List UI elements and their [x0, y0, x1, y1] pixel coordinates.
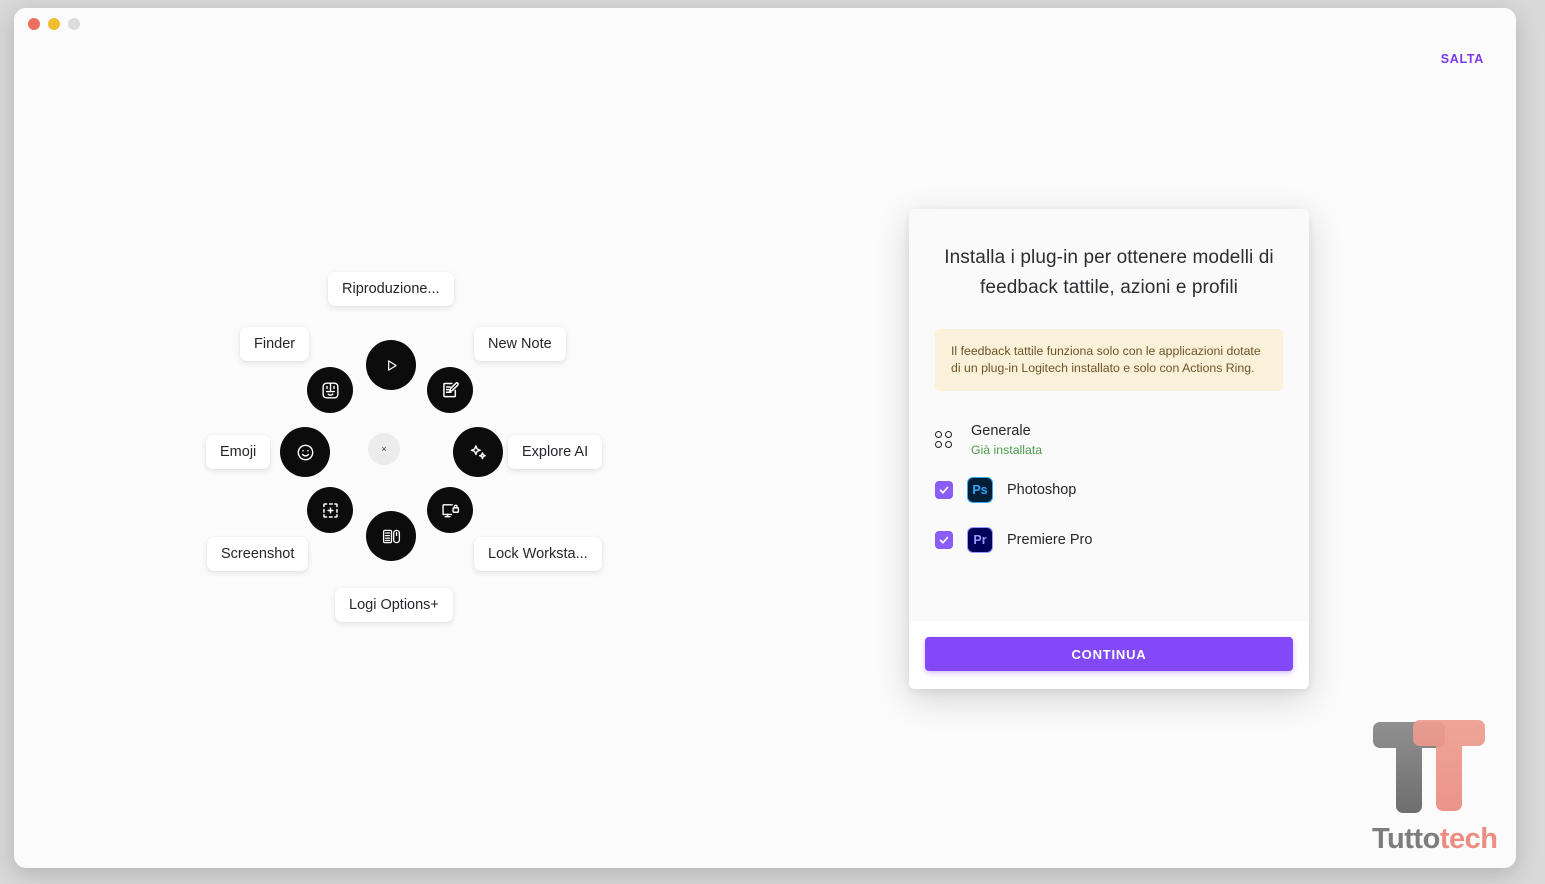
plugin-row-generale[interactable]: Generale Già installata [935, 415, 1283, 465]
ring-label-emoji[interactable]: Emoji [206, 435, 270, 469]
ring-node-explore-ai[interactable] [453, 427, 503, 477]
ring-label-new-note[interactable]: New Note [474, 327, 566, 361]
continue-button[interactable]: CONTINUA [925, 637, 1293, 671]
ring-node-riproduzione[interactable] [366, 340, 416, 390]
zoom-window-icon[interactable] [68, 18, 80, 30]
plugin-name-photoshop: Photoshop [1007, 482, 1076, 498]
note-edit-icon [440, 380, 461, 401]
ring-label-lock-workstation[interactable]: Lock Worksta... [474, 537, 602, 571]
plugin-name-premiere-pro: Premiere Pro [1007, 532, 1092, 548]
checkbox-photoshop[interactable] [935, 481, 953, 499]
screenshot-crop-icon [320, 500, 341, 521]
ring-label-logi-options[interactable]: Logi Options+ [335, 588, 453, 622]
skip-link[interactable]: SALTA [1441, 52, 1484, 66]
plugin-text-generale: Generale Già installata [971, 422, 1042, 459]
plugin-list: Generale Già installata Ps Photoshop [935, 415, 1283, 565]
ring-close-button[interactable]: × [368, 433, 400, 465]
keyboard-mouse-icon [381, 526, 402, 547]
traffic-light-group [28, 18, 80, 30]
ring-label-riproduzione[interactable]: Riproduzione... [328, 272, 454, 306]
ring-node-screenshot[interactable] [307, 487, 353, 533]
ring-node-logi-options[interactable] [366, 511, 416, 561]
plugin-row-premiere-pro[interactable]: Pr Premiere Pro [935, 515, 1283, 565]
sparkles-icon [468, 442, 489, 463]
wordmark-tutto: Tutto [1372, 823, 1440, 856]
grid-dots-icon [935, 431, 953, 449]
app-window: SALTA Riproduzione... New Note Explore A… [14, 8, 1516, 868]
wordmark-tech: tech [1440, 823, 1498, 856]
tuttotech-watermark: Tuttotech [1368, 712, 1508, 862]
plugin-row-photoshop[interactable]: Ps Photoshop [935, 465, 1283, 515]
play-icon [383, 357, 400, 374]
monitor-lock-icon [440, 500, 461, 521]
ring-label-finder[interactable]: Finder [240, 327, 309, 361]
action-ring: Riproduzione... New Note Explore AI Lock… [207, 263, 607, 633]
finder-face-icon [320, 380, 341, 401]
premiere-pro-icon: Pr [967, 527, 993, 553]
tuttotech-logo-icon [1368, 712, 1508, 832]
photoshop-icon: Ps [967, 477, 993, 503]
card-footer: CONTINUA [909, 621, 1309, 689]
plugin-name-generale: Generale [971, 423, 1031, 439]
screen-root: SALTA Riproduzione... New Note Explore A… [0, 0, 1545, 884]
ring-node-new-note[interactable] [427, 367, 473, 413]
title-bar [14, 8, 1516, 42]
haptics-notice: Il feedback tattile funziona solo con le… [935, 329, 1283, 391]
card-title: Installa i plug-in per ottenere modelli … [935, 235, 1283, 303]
ring-node-lock-workstation[interactable] [427, 487, 473, 533]
ring-label-explore-ai[interactable]: Explore AI [508, 435, 602, 469]
close-window-icon[interactable] [28, 18, 40, 30]
card-body: Installa i plug-in per ottenere modelli … [909, 209, 1309, 621]
plugin-status-generale: Già installata [971, 443, 1042, 457]
plugin-install-card: Installa i plug-in per ottenere modelli … [909, 209, 1309, 689]
ring-node-finder[interactable] [307, 367, 353, 413]
smiley-icon [295, 442, 316, 463]
checkbox-premiere-pro[interactable] [935, 531, 953, 549]
ring-node-emoji[interactable] [280, 427, 330, 477]
ring-label-screenshot[interactable]: Screenshot [207, 537, 308, 571]
minimize-window-icon[interactable] [48, 18, 60, 30]
tuttotech-wordmark: Tuttotech [1372, 823, 1497, 856]
